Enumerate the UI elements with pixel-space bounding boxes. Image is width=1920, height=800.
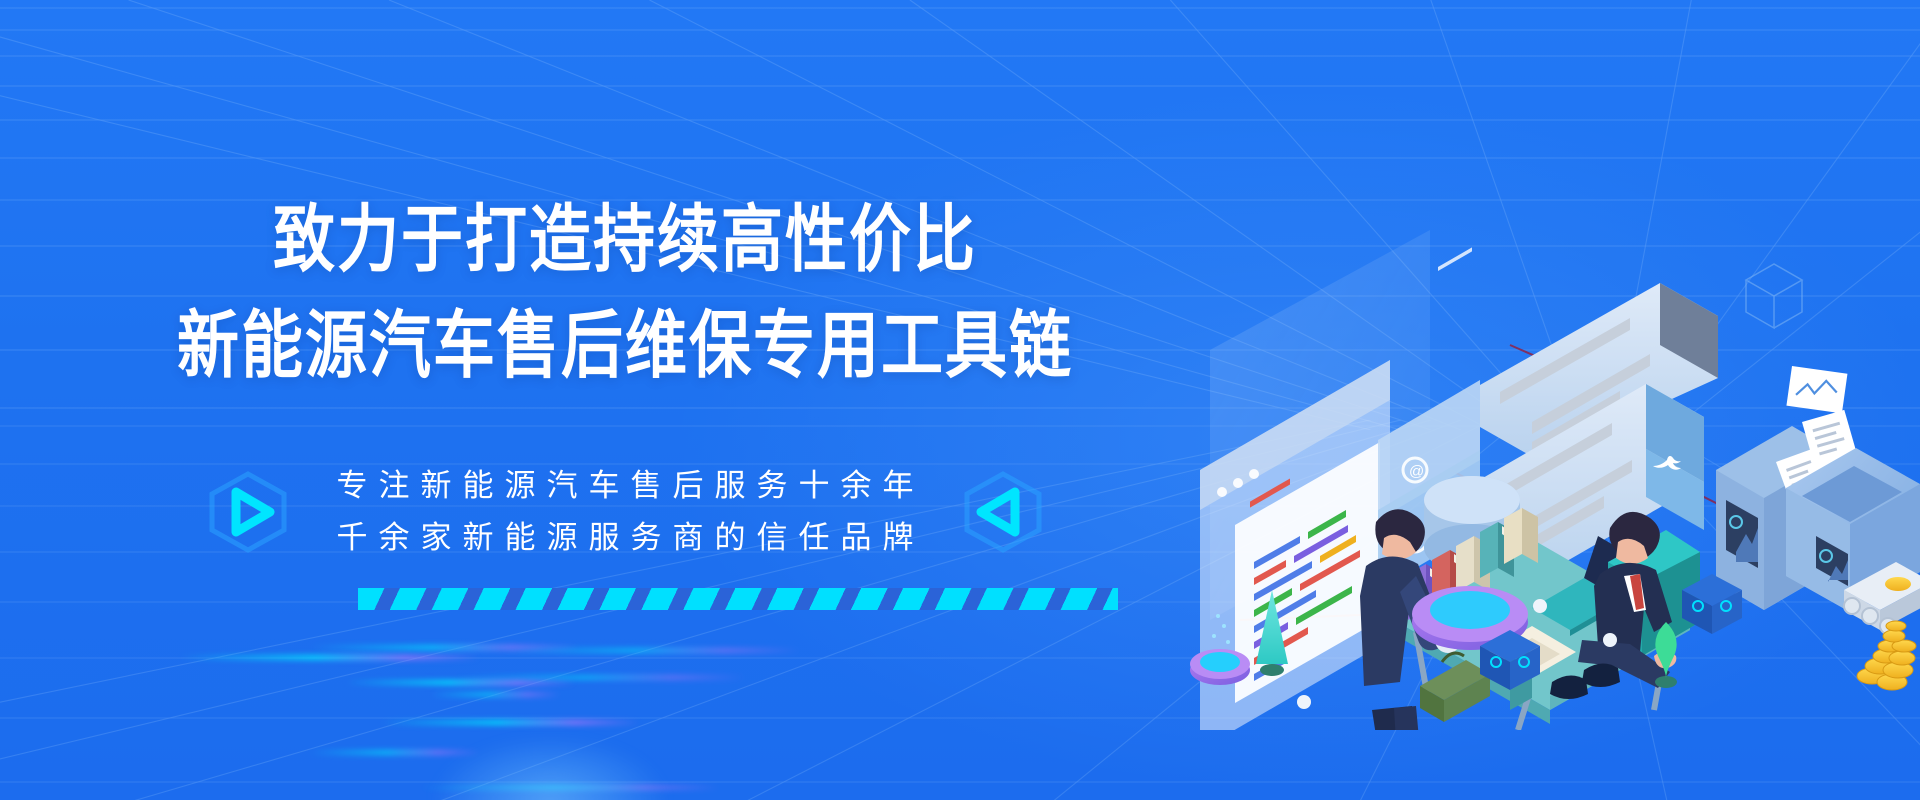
subtitle-line-1: 专注新能源汽车售后服务十余年 [326, 467, 925, 505]
svg-text:@: @ [1409, 463, 1424, 480]
banner-root: 致力于打造持续高性价比 新能源汽车售后维保专用工具链 专注新能源汽车售后服务十余… [0, 0, 1920, 800]
isometric-office-illustration: @ @ [1180, 170, 1920, 730]
play-arrow-left-hex-icon [955, 464, 1051, 560]
gold-coin-stack [1857, 621, 1916, 690]
play-arrow-right-hex-icon [200, 464, 296, 560]
headline-line-1: 致力于打造持续高性价比 [0, 196, 1250, 286]
subtitle-line-2: 千余家新能源服务商的信任品牌 [326, 519, 925, 557]
wireframe-cube [1746, 264, 1802, 328]
diagonal-stripe-bar [358, 588, 1118, 610]
banner-text-block: 致力于打造持续高性价比 新能源汽车售后维保专用工具链 专注新能源汽车售后服务十余… [0, 196, 1250, 560]
headline-line-2: 新能源汽车售后维保专用工具链 [0, 302, 1250, 392]
subtitle-row: 专注新能源汽车售后服务十余年 千余家新能源服务商的信任品牌 [0, 464, 1250, 560]
subtitle-lines: 专注新能源汽车售后服务十余年 千余家新能源服务商的信任品牌 [326, 467, 925, 557]
